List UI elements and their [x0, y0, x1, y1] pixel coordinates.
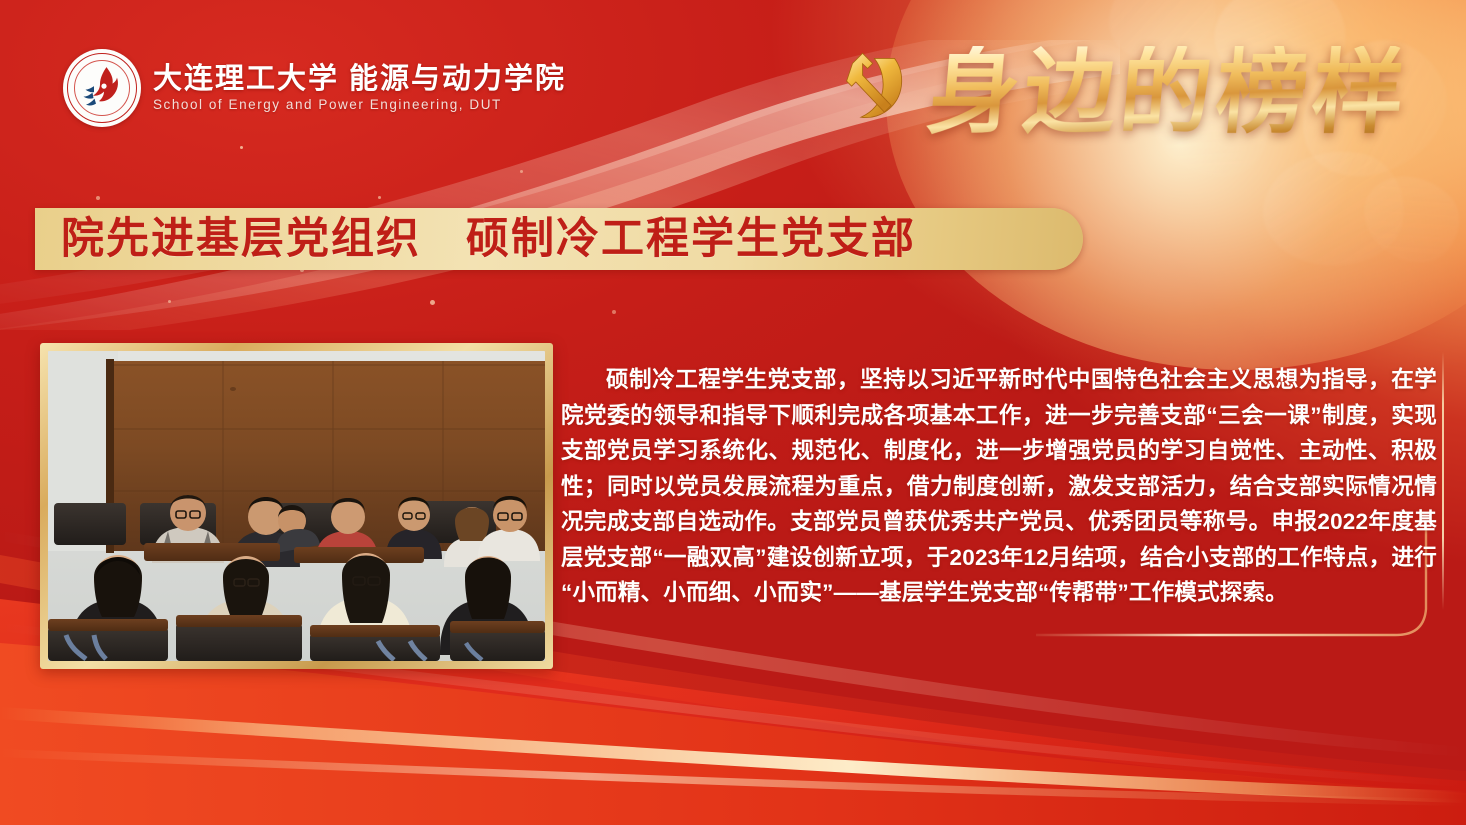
flame-glyph [82, 65, 122, 109]
gold-rule-right [1442, 352, 1444, 610]
logo-name-en: School of Energy and Power Engineering, … [153, 97, 566, 112]
sparkle-dot [430, 300, 435, 305]
phoenix-flame-seal-icon [63, 49, 141, 127]
hammer-and-sickle-icon [834, 50, 918, 134]
section-title-banner: 院先进基层党组织 硕制冷工程学生党支部 [35, 208, 1083, 270]
petal-decor-4 [1257, 141, 1412, 275]
sparkle-dot [168, 300, 171, 303]
sparkle-dot [378, 196, 381, 199]
group-photo [48, 351, 545, 661]
body-paragraph: 硕制冷工程学生党支部，坚持以习近平新时代中国特色社会主义思想为指导，在学院党委的… [561, 362, 1437, 611]
sparkle-dot [240, 146, 243, 149]
school-logo: 大连理工大学 能源与动力学院 School of Energy and Powe… [63, 49, 566, 127]
sparkle-dot [612, 310, 616, 314]
sparkle-dot [96, 196, 100, 200]
photo-content [48, 351, 545, 661]
photo-frame [40, 343, 553, 669]
headline-group: 身边的榜样 [834, 46, 1408, 138]
section-title-text: 院先进基层党组织 硕制冷工程学生党支部 [61, 218, 916, 261]
sparkle-dot [520, 170, 523, 173]
body-paragraph-block: 硕制冷工程学生党支部，坚持以习近平新时代中国特色社会主义思想为指导，在学院党委的… [561, 362, 1437, 611]
logo-name-cn: 大连理工大学 能源与动力学院 [153, 64, 566, 95]
petal-decor-6 [1348, 154, 1466, 281]
headline-text: 身边的榜样 [924, 46, 1412, 138]
slide-root: 大连理工大学 能源与动力学院 School of Energy and Powe… [0, 0, 1466, 825]
